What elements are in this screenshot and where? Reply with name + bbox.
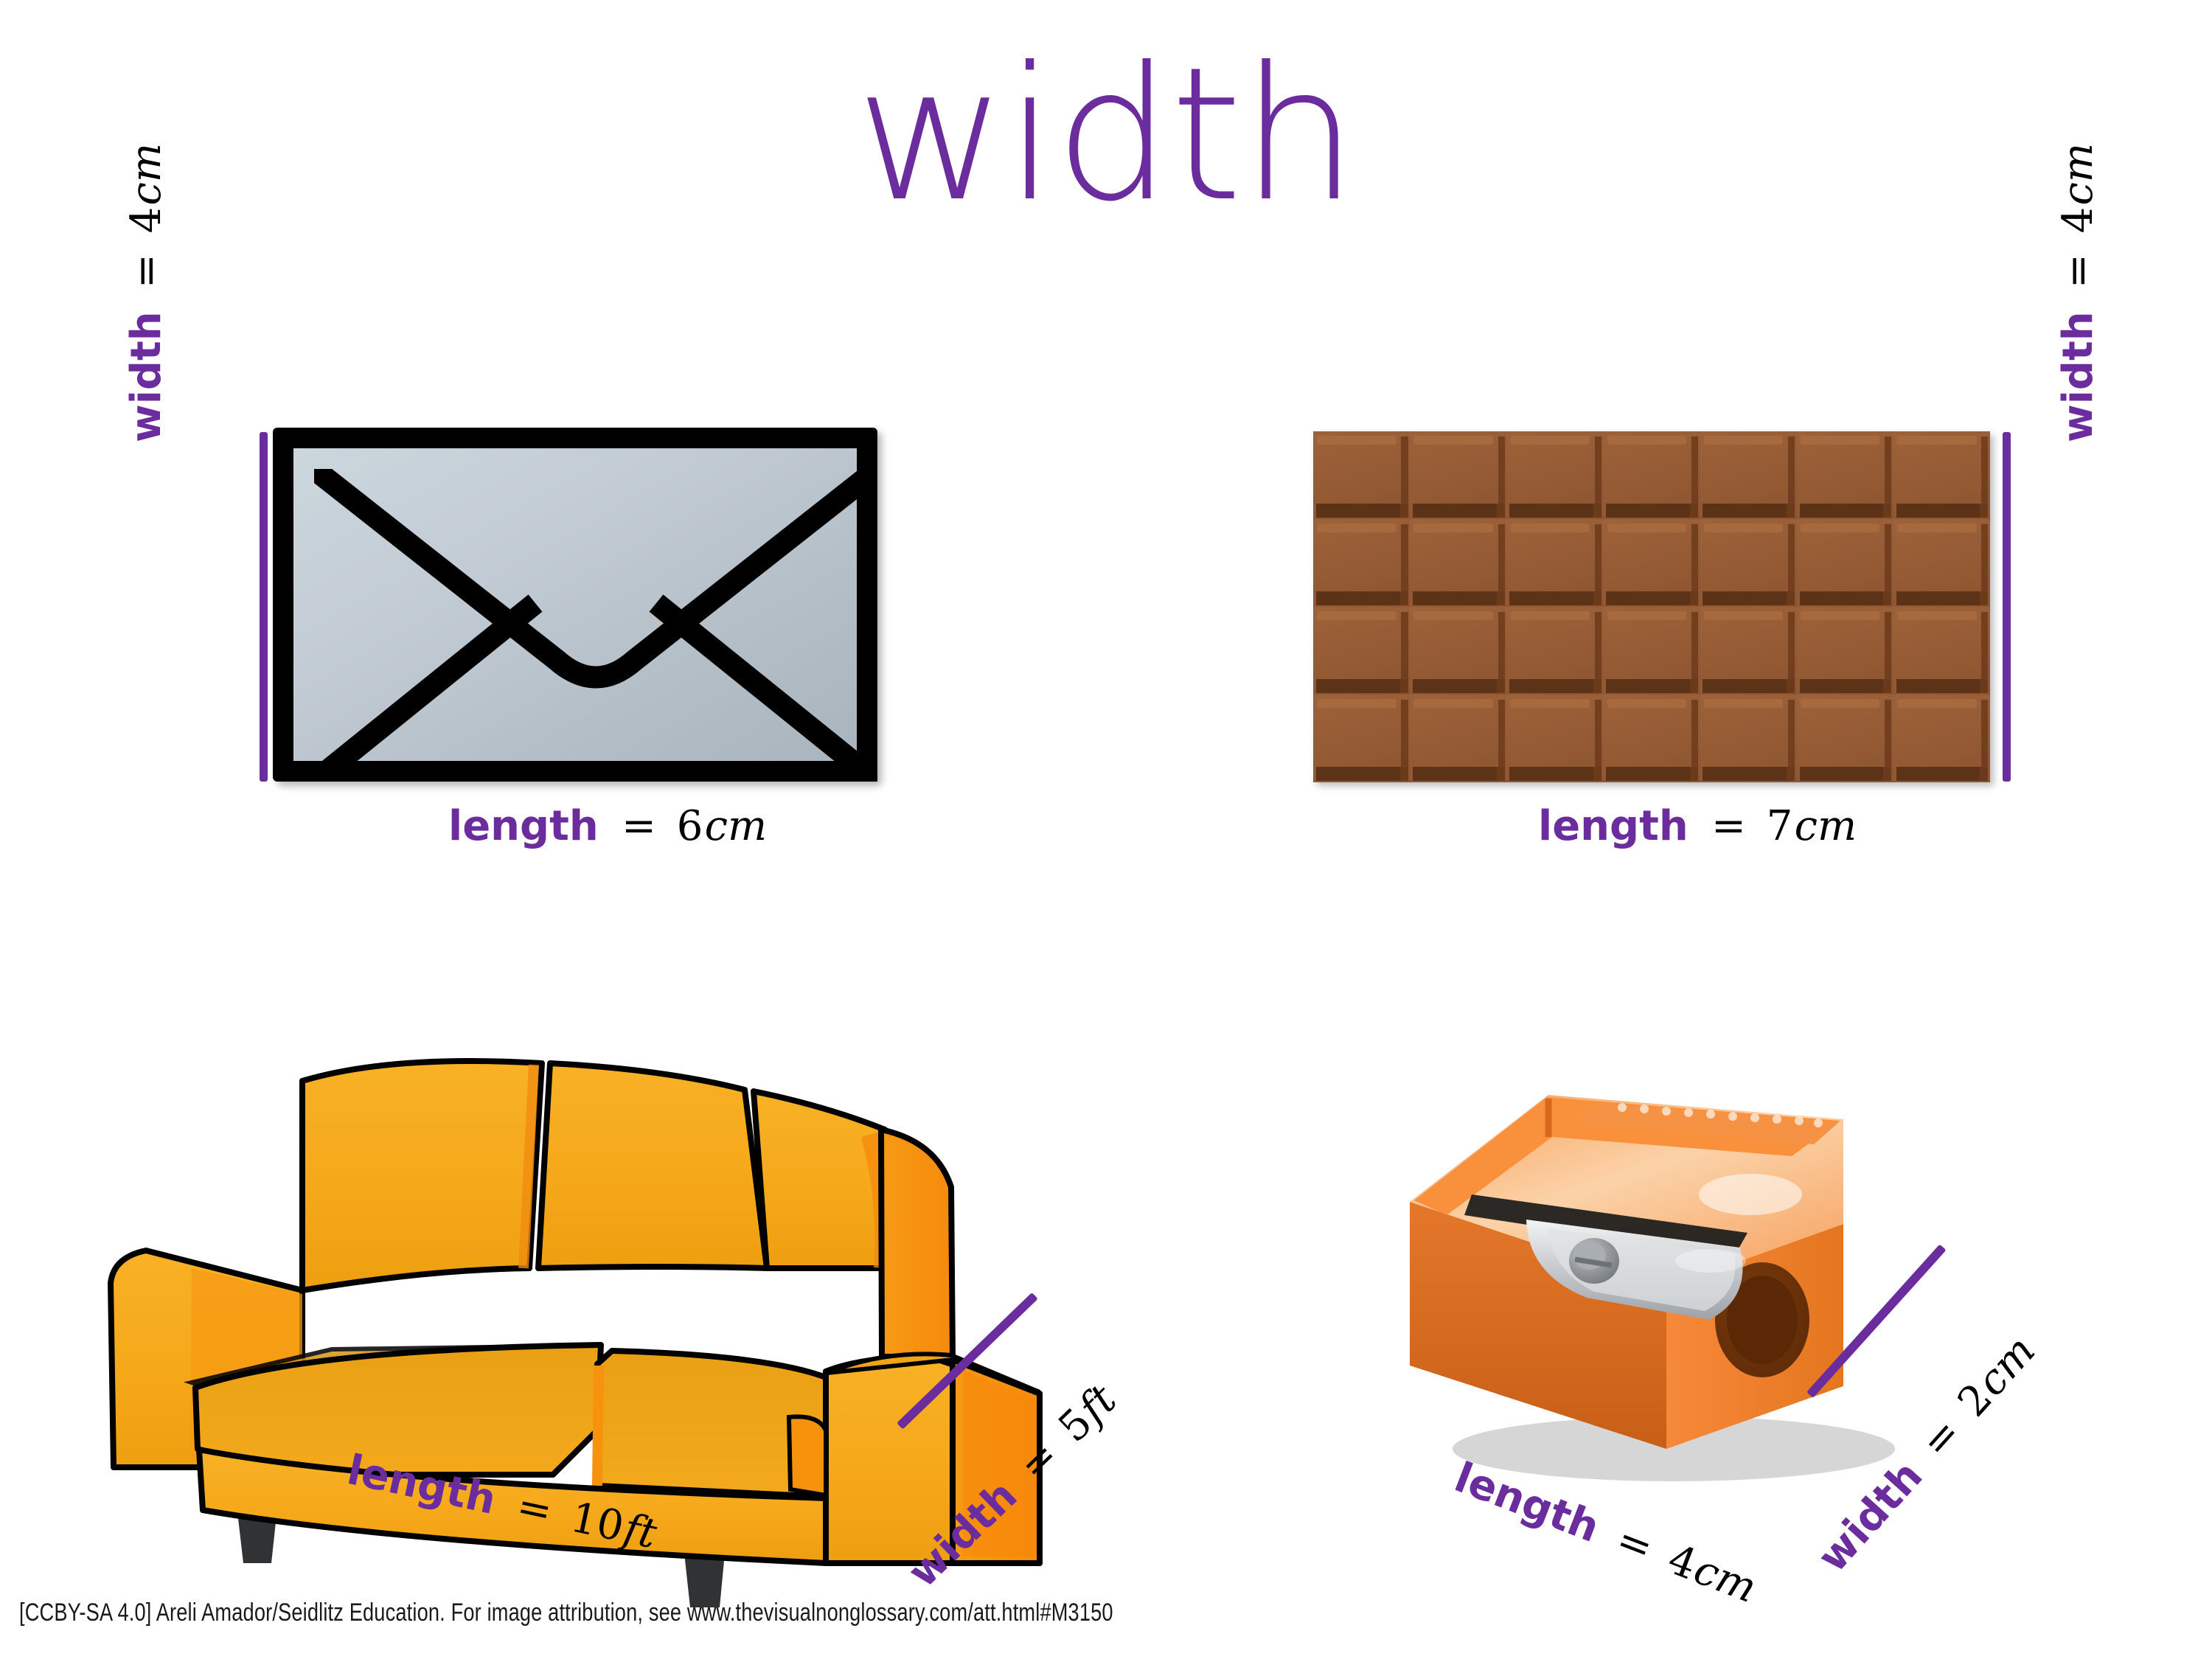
chocolate-square: [1410, 431, 1506, 519]
chocolate-square: [1410, 519, 1506, 607]
chocolate-square: [1313, 695, 1410, 782]
chocolate-square: [1506, 695, 1603, 782]
sharpener-length-unit: cm: [1688, 1545, 1763, 1613]
chocolate-square: [1506, 519, 1603, 607]
envelope-width-unit: cm: [122, 143, 170, 205]
chocolate-square: [1313, 519, 1410, 607]
chocolate-square: [1603, 519, 1700, 607]
chocolate-square: [1603, 695, 1700, 782]
chocolate-width-value: 4: [2054, 207, 2102, 234]
chocolate-square: [1797, 607, 1893, 695]
envelope-length-unit: cm: [705, 802, 767, 850]
chocolate-width-keyword: width: [2054, 311, 2102, 442]
envelope-length-label: length = 6cm: [448, 805, 767, 847]
chocolate-width-label: width = 4cm: [2057, 143, 2099, 442]
envelope-body: [273, 428, 877, 782]
chocolate-square: [1700, 519, 1797, 607]
envelope-length-keyword: length: [448, 802, 599, 850]
chocolate-square: [1700, 695, 1797, 782]
chocolate-square: [1313, 607, 1410, 695]
envelope-length-equals: =: [622, 802, 656, 850]
chocolate-bar-illustration: [1313, 431, 1990, 782]
poster-canvas: width width = 4cm length = 6cm: [0, 0, 2212, 1659]
chocolate-square: [1893, 607, 1990, 695]
chocolate-bar-grid: [1313, 431, 1990, 782]
chocolate-square: [1893, 431, 1990, 519]
chocolate-square: [1313, 431, 1410, 519]
envelope-width-value: 4: [122, 207, 170, 234]
chocolate-width-unit: cm: [2054, 143, 2102, 205]
chocolate-square: [1603, 607, 1700, 695]
chocolate-square: [1410, 695, 1506, 782]
chocolate-square: [1893, 519, 1990, 607]
chocolate-square: [1700, 607, 1797, 695]
envelope-width-measure-line: [260, 432, 268, 782]
chocolate-length-label: length = 7cm: [1538, 805, 1857, 847]
chocolate-length-value: 7: [1767, 802, 1793, 850]
chocolate-length-keyword: length: [1538, 802, 1688, 850]
chocolate-square: [1603, 431, 1700, 519]
chocolate-width-equals: =: [2054, 254, 2102, 288]
envelope-length-value: 6: [677, 802, 703, 850]
chocolate-square: [1797, 695, 1893, 782]
sofa-length-equals: =: [512, 1482, 556, 1536]
envelope-flap-lines: [314, 469, 877, 782]
chocolate-square: [1797, 431, 1893, 519]
chocolate-length-equals: =: [1711, 802, 1746, 850]
chocolate-square: [1797, 519, 1893, 607]
page-title: width: [0, 43, 2212, 227]
footer-attribution: [CCBY-SA 4.0] Areli Amador/Seidlitz Educ…: [19, 1599, 1113, 1627]
envelope-width-equals: =: [122, 254, 170, 288]
chocolate-square: [1893, 695, 1990, 782]
envelope-width-keyword: width: [122, 311, 170, 442]
chocolate-square: [1506, 607, 1603, 695]
chocolate-length-unit: cm: [1795, 802, 1857, 850]
chocolate-width-measure-line: [2003, 432, 2011, 782]
envelope-width-label: width = 4cm: [125, 143, 167, 442]
chocolate-square: [1506, 431, 1603, 519]
chocolate-square: [1410, 607, 1506, 695]
chocolate-square: [1700, 431, 1797, 519]
envelope-illustration: [273, 428, 877, 782]
